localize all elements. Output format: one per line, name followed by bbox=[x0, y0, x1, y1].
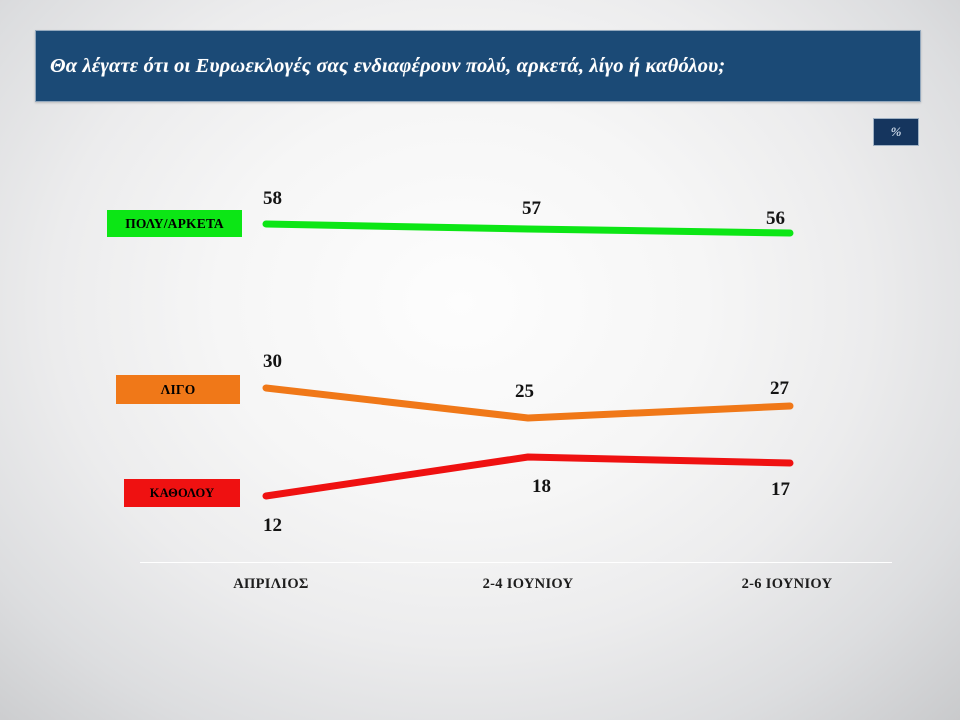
x-axis-tick-2: 2-4 ΙΟΥΝΙΟΥ bbox=[453, 576, 603, 593]
page-title: Θα λέγατε ότι οι Ευρωεκλογές σας ενδιαφέ… bbox=[36, 55, 725, 78]
legend-item-katholou[interactable]: ΚΑΘΟΛΟΥ bbox=[124, 479, 240, 507]
x-axis-tick-1: ΑΠΡΙΛΙΟΣ bbox=[196, 576, 346, 593]
legend-label-poly-arketa: ΠΟΛΥ/ΑΡΚΕΤΑ bbox=[125, 216, 224, 232]
data-label-katholou-3: 17 bbox=[771, 479, 790, 501]
series-line-katholou bbox=[266, 457, 790, 496]
legend-item-poly-arketa[interactable]: ΠΟΛΥ/ΑΡΚΕΤΑ bbox=[107, 210, 242, 237]
data-label-katholou-1: 12 bbox=[263, 515, 282, 537]
chart-title-bar: Θα λέγατε ότι οι Ευρωεκλογές σας ενδιαφέ… bbox=[35, 30, 921, 102]
percent-unit-badge: % bbox=[873, 118, 919, 146]
x-axis-tick-3: 2-6 ΙΟΥΝΙΟΥ bbox=[712, 576, 862, 593]
legend-label-ligo: ΛΙΓΟ bbox=[161, 382, 196, 398]
data-label-poly-arketa-1: 58 bbox=[263, 188, 282, 210]
legend-label-katholou: ΚΑΘΟΛΟΥ bbox=[150, 486, 215, 501]
data-label-ligo-1: 30 bbox=[263, 351, 282, 373]
footer: NEWS alco The pulse of society bbox=[0, 636, 960, 720]
data-label-ligo-3: 27 bbox=[770, 378, 789, 400]
series-line-poly-arketa bbox=[266, 224, 790, 233]
x-axis-line bbox=[140, 562, 892, 563]
data-label-ligo-2: 25 bbox=[515, 381, 534, 403]
data-label-katholou-2: 18 bbox=[532, 476, 551, 498]
data-label-poly-arketa-3: 56 bbox=[766, 208, 785, 230]
data-label-poly-arketa-2: 57 bbox=[522, 198, 541, 220]
percent-unit-label: % bbox=[891, 124, 902, 140]
legend-item-ligo[interactable]: ΛΙΓΟ bbox=[116, 375, 240, 404]
